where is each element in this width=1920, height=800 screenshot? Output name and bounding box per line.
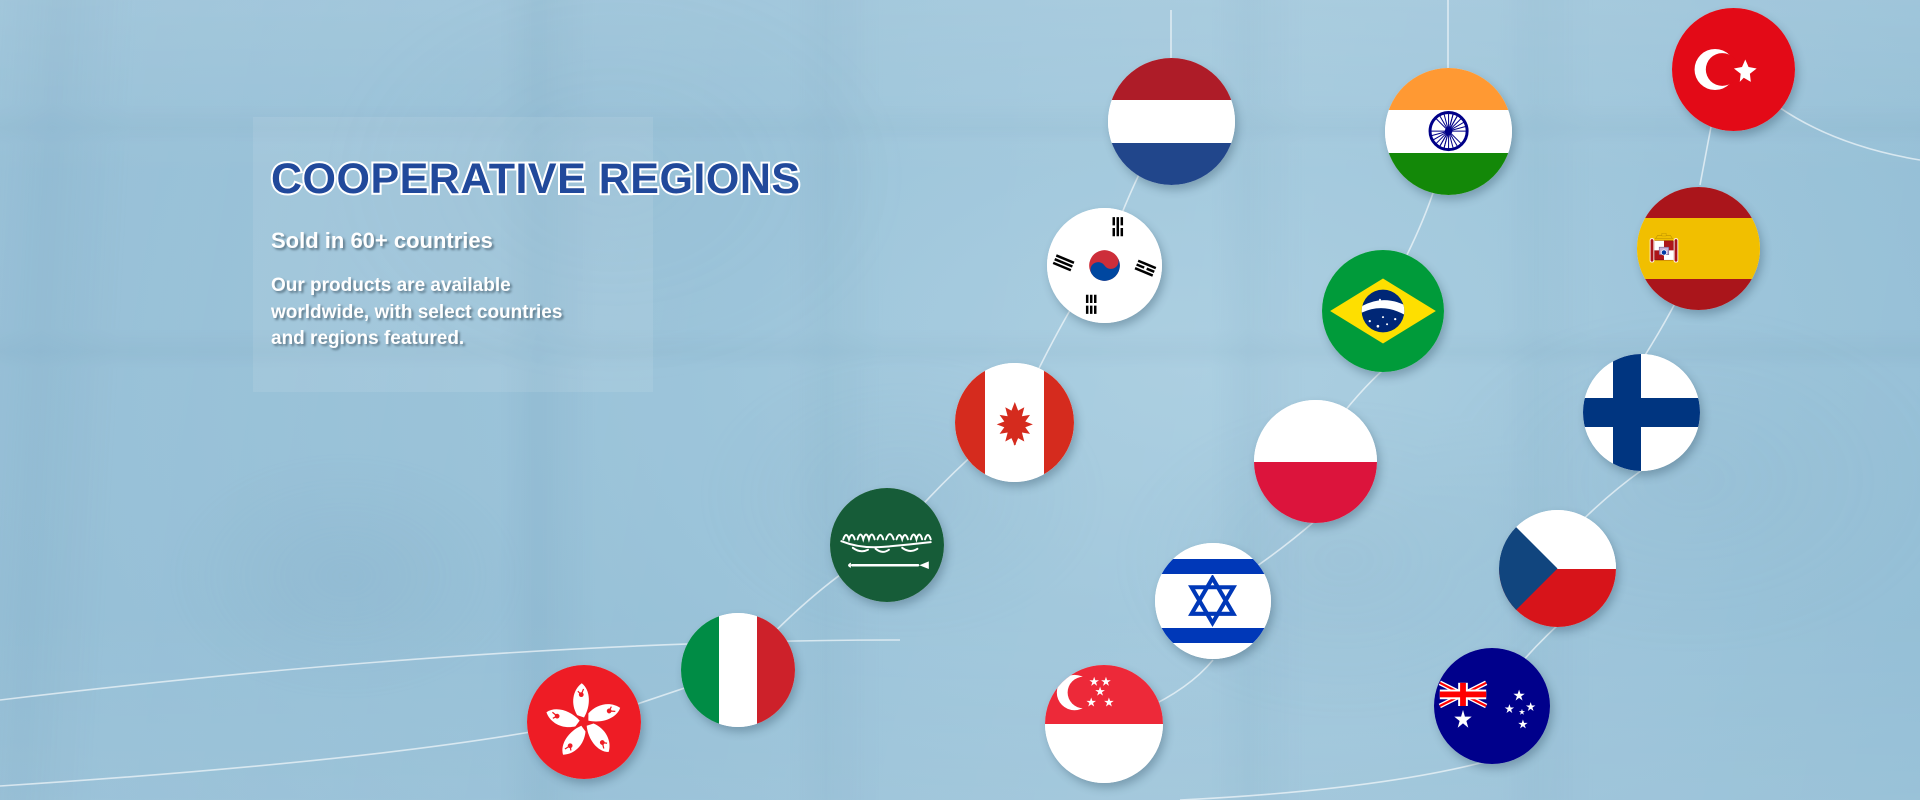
- flag-south-korea-icon[interactable]: [1047, 208, 1162, 323]
- flag-netherlands-icon[interactable]: [1108, 58, 1235, 185]
- flag-canada-icon[interactable]: [955, 363, 1074, 482]
- flag-spain-icon[interactable]: [1637, 187, 1760, 310]
- flag-poland-icon[interactable]: [1254, 400, 1377, 523]
- flag-brazil-icon[interactable]: [1322, 250, 1444, 372]
- flag-india-icon[interactable]: [1385, 68, 1512, 195]
- flag-singapore-icon[interactable]: [1045, 665, 1163, 783]
- flag-saudi-arabia-icon[interactable]: [830, 488, 944, 602]
- flag-hong-kong-icon[interactable]: [527, 665, 641, 779]
- flag-israel-icon[interactable]: [1155, 543, 1271, 659]
- flag-australia-icon[interactable]: [1434, 648, 1550, 764]
- flag-czech-republic-icon[interactable]: [1499, 510, 1616, 627]
- flag-italy-icon[interactable]: [681, 613, 795, 727]
- cooperative-regions-banner: COOPERATIVE REGIONS Sold in 60+ countrie…: [0, 0, 1920, 800]
- flag-turkey-icon[interactable]: [1672, 8, 1795, 131]
- hero-text-panel: COOPERATIVE REGIONS Sold in 60+ countrie…: [253, 117, 653, 392]
- page-title: COOPERATIVE REGIONS: [271, 157, 653, 202]
- hero-subheadline: Sold in 60+ countries: [271, 228, 653, 254]
- flag-finland-icon[interactable]: [1583, 354, 1700, 471]
- hero-body-text: Our products are available worldwide, wi…: [271, 273, 601, 354]
